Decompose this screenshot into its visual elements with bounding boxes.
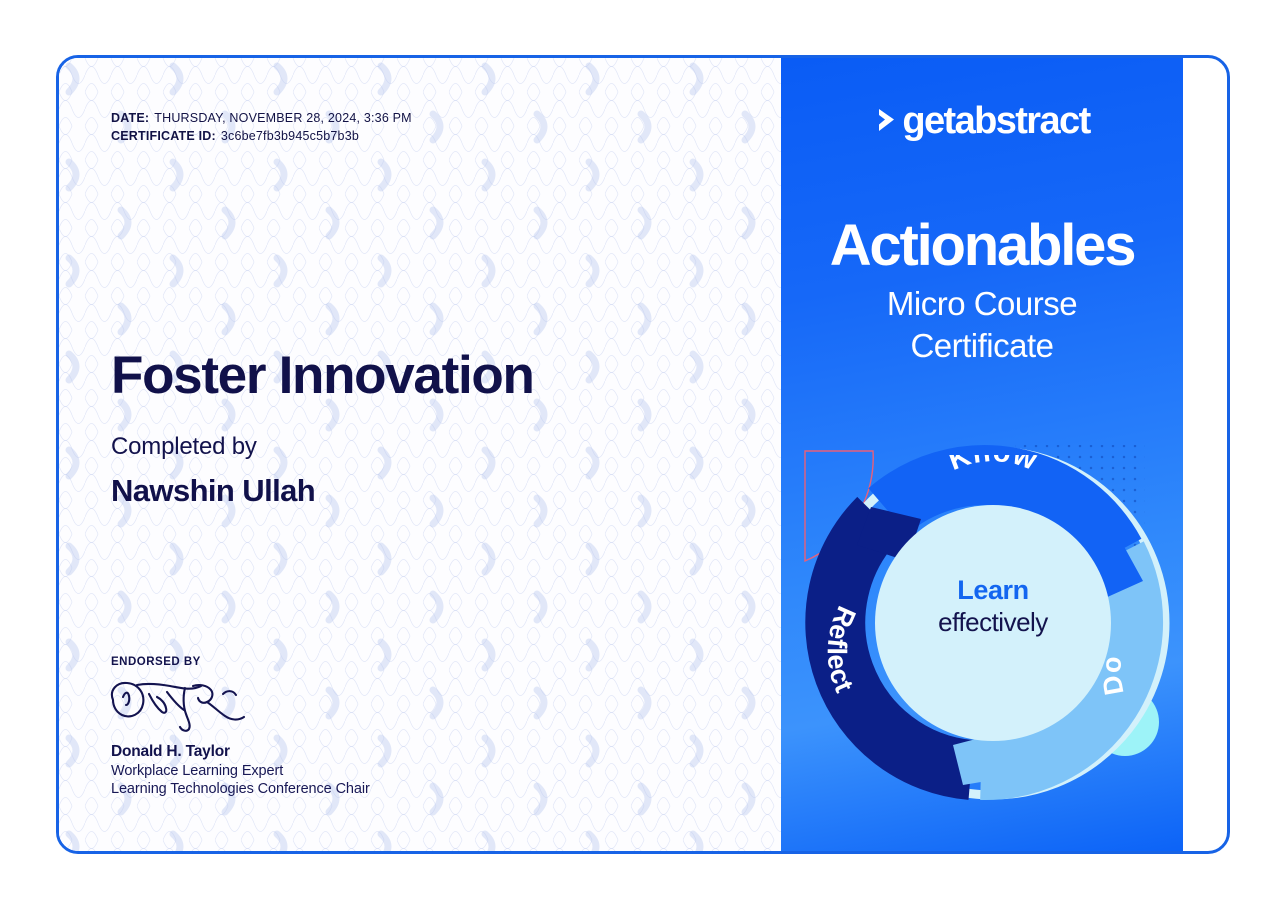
endorser-name: Donald H. Taylor (111, 743, 370, 761)
cycle-center-text: Learn effectively (803, 575, 1183, 638)
svg-text:Do: Do (1093, 651, 1132, 698)
panel-subtitle-line-1: Micro Course (781, 283, 1183, 325)
endorser-role-line-1: Workplace Learning Expert (111, 763, 370, 779)
getabstract-chevron-icon (874, 104, 900, 138)
brand-wordmark: getabstract (902, 102, 1089, 140)
certificate-id-value: 3c6be7fb3b945c5b7b3b (221, 129, 359, 143)
certificate-blue-panel: getabstract Actionables Micro Course Cer… (781, 58, 1183, 851)
cycle-center-primary: Learn (803, 575, 1183, 607)
endorsement-block: ENDORSED BY Donald H. Taylor Workplace L… (111, 656, 370, 797)
course-title: Foster Innovation (111, 348, 534, 404)
endorser-role-line-2: Learning Technologies Conference Chair (111, 781, 370, 797)
cycle-center-secondary: effectively (803, 607, 1183, 638)
certificate-meta-block: DATE:THURSDAY, NOVEMBER 28, 2024, 3:36 P… (111, 109, 412, 145)
certificate-id-row: CERTIFICATE ID:3c6be7fb3b945c5b7b3b (111, 127, 412, 145)
handwritten-signature-icon (107, 672, 257, 734)
certificate-frame: DATE:THURSDAY, NOVEMBER 28, 2024, 3:36 P… (56, 55, 1230, 854)
completed-by-label: Completed by (111, 433, 257, 461)
svg-text:Know: Know (944, 455, 1042, 477)
certificate-paper-side: DATE:THURSDAY, NOVEMBER 28, 2024, 3:36 P… (59, 58, 781, 851)
date-label: DATE: (111, 111, 149, 125)
date-value: THURSDAY, NOVEMBER 28, 2024, 3:36 PM (154, 111, 412, 125)
cycle-label-know: Know (911, 455, 1075, 520)
certificate-id-label: CERTIFICATE ID: (111, 129, 216, 143)
date-row: DATE:THURSDAY, NOVEMBER 28, 2024, 3:36 P… (111, 109, 412, 127)
panel-title: Actionables (781, 216, 1183, 275)
panel-heading: Actionables Micro Course Certificate (781, 216, 1183, 368)
panel-subtitle-line-2: Certificate (781, 325, 1183, 367)
recipient-name: Nawshin Ullah (111, 473, 315, 509)
learning-cycle-diagram: Know Reflect Do (803, 433, 1183, 813)
endorsed-by-label: ENDORSED BY (111, 656, 370, 668)
brand-logo: getabstract (781, 102, 1183, 140)
